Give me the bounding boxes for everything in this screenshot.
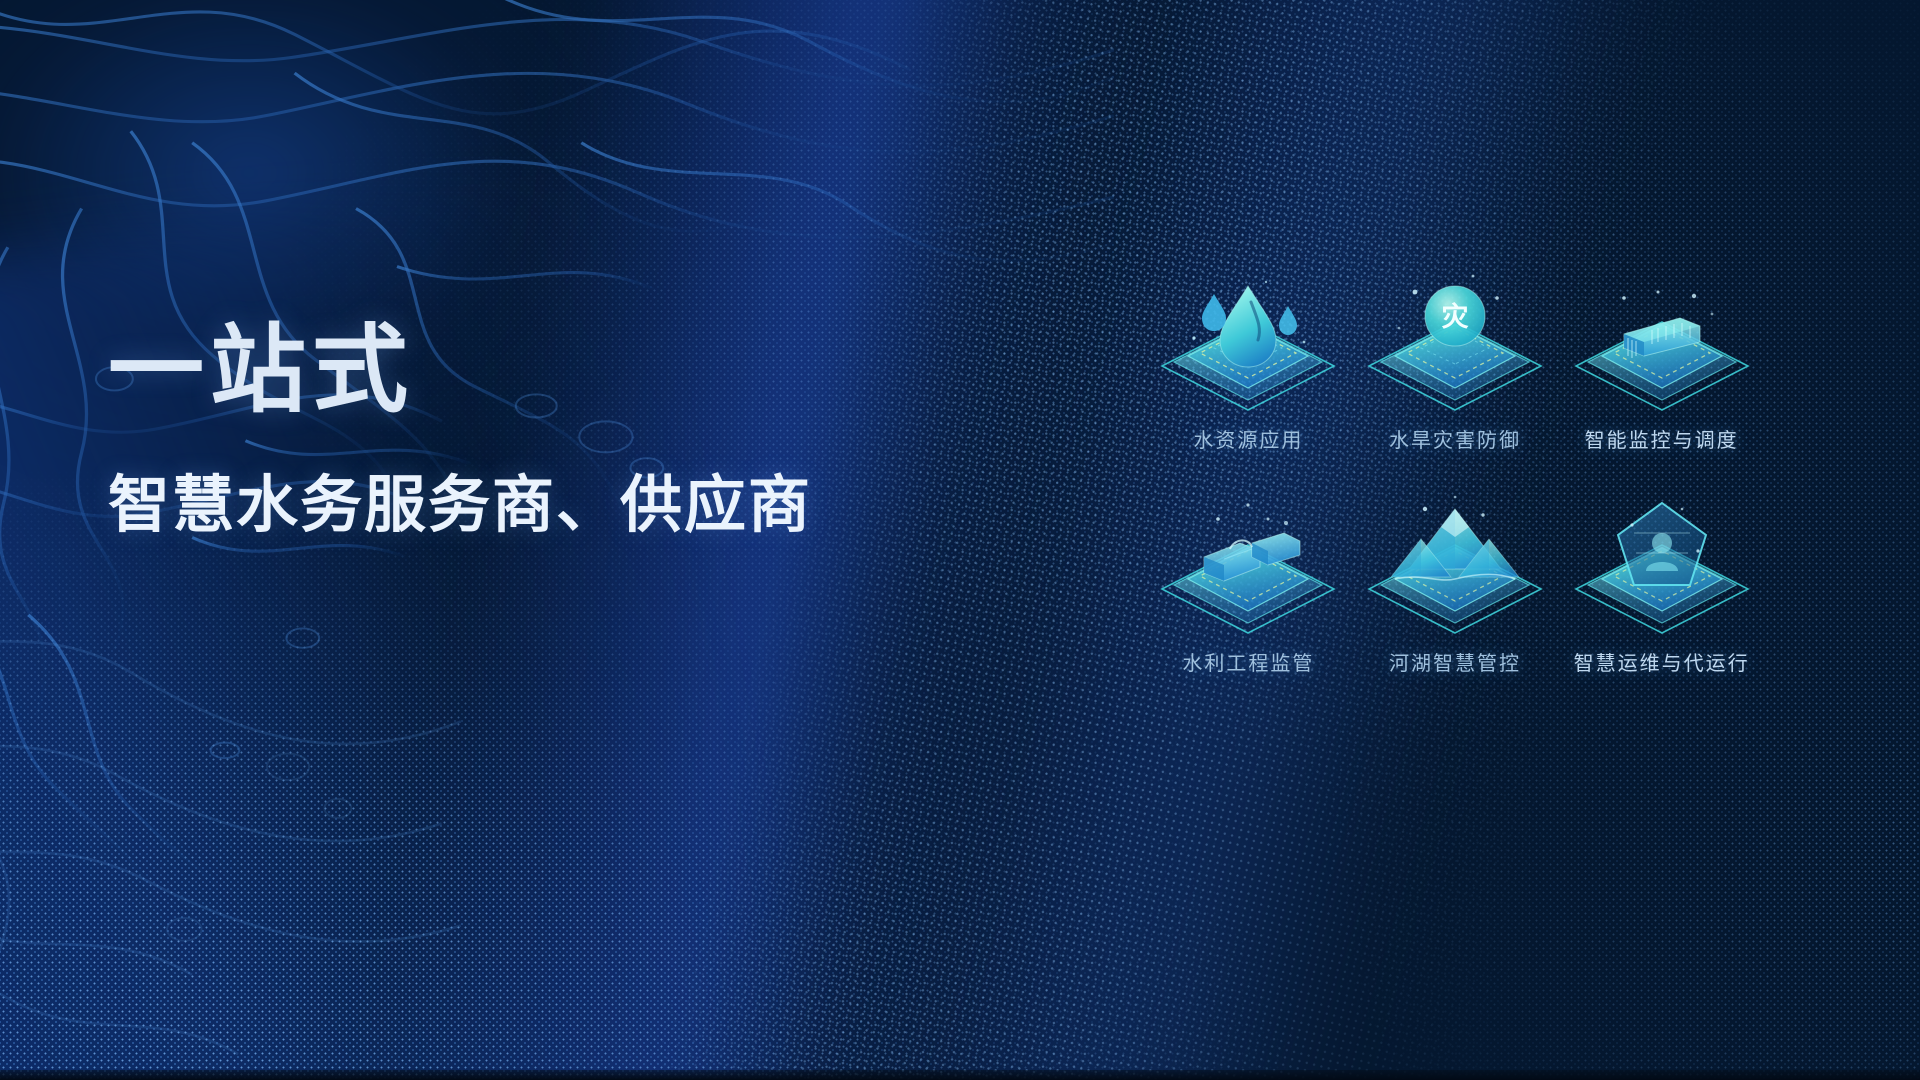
slide-canvas: 一站式 智慧水务服务商、供应商 — [0, 0, 1920, 1080]
grid-item-label: 河湖智慧管控 — [1389, 647, 1521, 676]
bottom-edge-bar — [0, 1070, 1920, 1080]
grid-item-label: 智能监控与调度 — [1585, 424, 1739, 453]
disaster-badge-char: 灾 — [1441, 301, 1468, 332]
water-drop-platform-icon — [1148, 268, 1348, 418]
page-title: 一站式 — [108, 322, 414, 420]
grid-item-smart-ops[interactable]: 智慧运维与代运行 — [1558, 491, 1765, 676]
hydro-structure-platform-icon — [1148, 491, 1348, 641]
service-icon-grid: 水资源应用 — [1145, 268, 1765, 676]
page-subtitle: 智慧水务服务商、供应商 — [108, 470, 812, 541]
shield-pentagon-platform-icon — [1562, 491, 1762, 641]
grid-item-river-lake[interactable]: 河湖智慧管控 — [1352, 491, 1559, 676]
dam-monitor-platform-icon — [1562, 268, 1762, 418]
grid-item-label: 水利工程监管 — [1182, 647, 1314, 676]
grid-item-project-supervise[interactable]: 水利工程监管 — [1145, 491, 1352, 676]
grid-item-monitor-dispatch[interactable]: 智能监控与调度 — [1558, 268, 1765, 453]
disaster-sphere-platform-icon: 灾 — [1355, 268, 1555, 418]
grid-item-label: 水资源应用 — [1193, 424, 1303, 453]
mountain-river-platform-icon — [1355, 491, 1555, 641]
grid-item-water-resource[interactable]: 水资源应用 — [1145, 268, 1352, 453]
grid-item-label: 智慧运维与代运行 — [1574, 647, 1750, 676]
grid-item-label: 水旱灾害防御 — [1389, 424, 1521, 453]
grid-item-flood-drought[interactable]: 灾 水旱灾害防御 — [1352, 268, 1559, 453]
